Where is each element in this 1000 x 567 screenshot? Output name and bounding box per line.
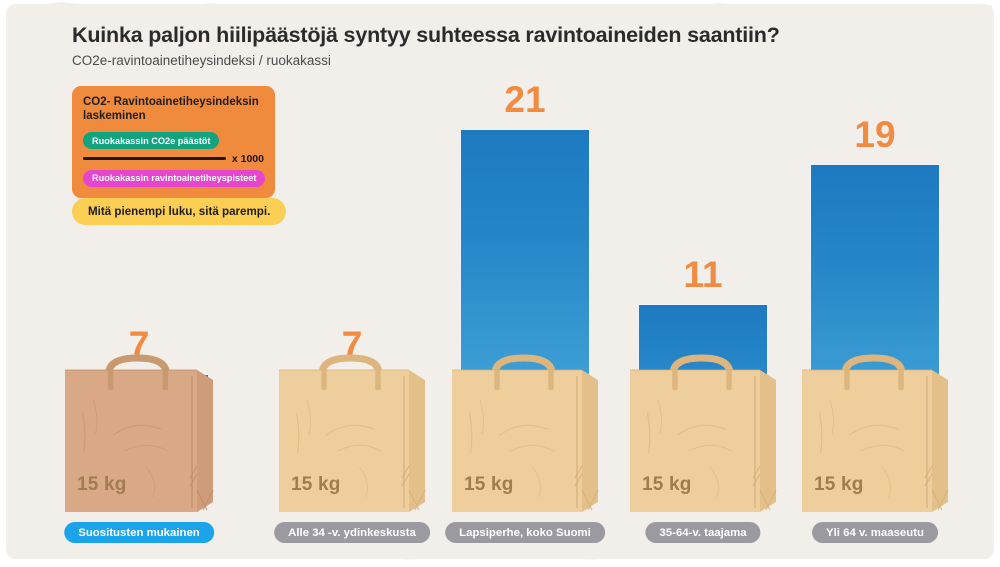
bar-value-label: 19	[854, 116, 895, 153]
bar-group: 715 kgAlle 34 -v. ydinkeskusta	[277, 4, 427, 567]
bar-value-label: 21	[504, 81, 545, 118]
bar-group: 1915 kgYli 64 v. maaseutu	[800, 4, 950, 567]
bar-group: 2115 kgLapsiperhe, koko Suomi	[450, 4, 600, 567]
bar-chart-plot: 715 kgSuositusten mukainen715 kgAlle 34 …	[6, 4, 1000, 567]
bag-weight-label: 15 kg	[642, 474, 692, 496]
category-pill[interactable]: Alle 34 -v. ydinkeskusta	[274, 522, 430, 543]
bar-value-label: 11	[683, 256, 722, 293]
bag-weight-label: 15 kg	[814, 474, 864, 496]
category-pill[interactable]: Yli 64 v. maaseutu	[812, 522, 938, 543]
bag-weight-label: 15 kg	[291, 474, 341, 496]
bag-weight-label: 15 kg	[77, 474, 127, 496]
category-pill[interactable]: Lapsiperhe, koko Suomi	[445, 522, 605, 543]
bar-group: 1115 kg35-64-v. taajama	[628, 4, 778, 567]
infographic-root: Kuinka paljon hiilipäästöjä syntyy suhte…	[0, 0, 1000, 563]
category-pill[interactable]: Suositusten mukainen	[64, 522, 214, 543]
category-pill[interactable]: 35-64-v. taajama	[645, 522, 760, 543]
bar-group: 715 kgSuositusten mukainen	[63, 4, 215, 567]
paper-card: Kuinka paljon hiilipäästöjä syntyy suhte…	[6, 4, 994, 559]
bag-weight-label: 15 kg	[464, 474, 514, 496]
